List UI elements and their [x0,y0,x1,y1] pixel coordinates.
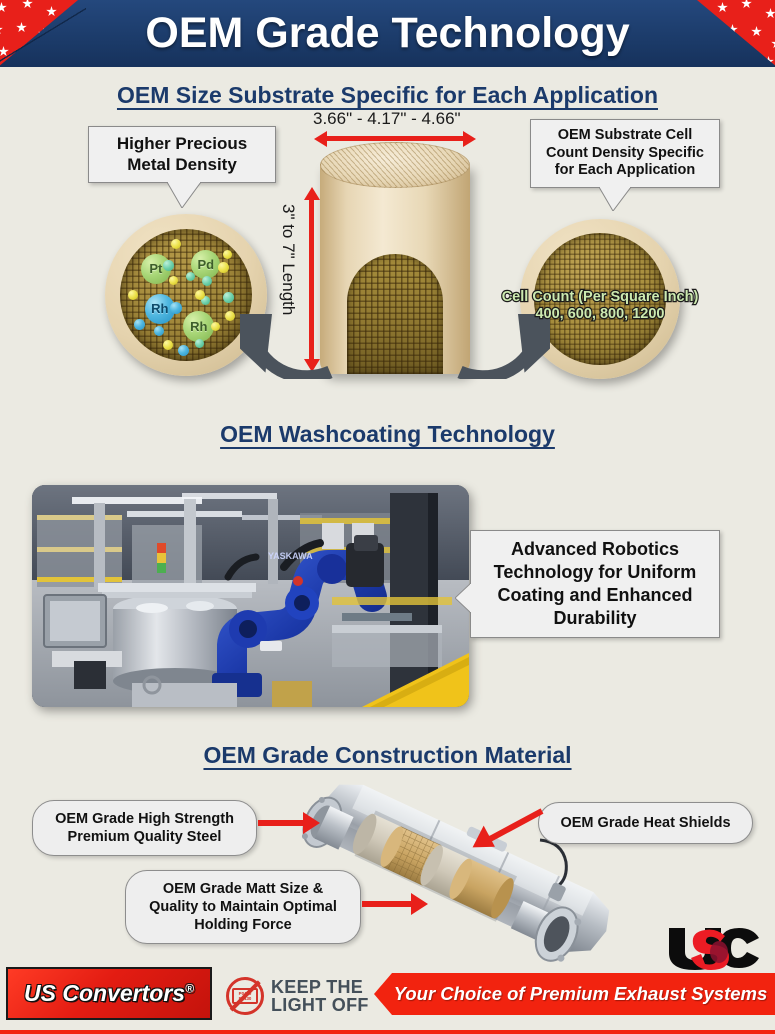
keep-the-light-off-badge: P0420 P0430 KEEP THE LIGHT OFF [226,977,369,1015]
callout-cell-count-density: OEM Substrate Cell Count Density Specifi… [530,119,720,188]
metal-particle [225,311,235,321]
keep-light-off-text: KEEP THE LIGHT OFF [271,978,369,1015]
cylinder-body [320,164,470,374]
section-title-washcoating: OEM Washcoating Technology [0,421,775,448]
pill-high-strength-steel: OEM Grade High Strength Premium Quality … [32,800,257,856]
metal-particle [170,302,182,314]
tagline-banner: Your Choice of Premium Exhaust Systems [374,973,775,1015]
callout-line: Higher Precious [98,134,266,155]
metal-particle [169,276,178,285]
metal-particle [223,250,232,259]
pill-matt-size-quality: OEM Grade Matt Size & Quality to Maintai… [125,870,361,944]
bottom-red-strip [0,1030,775,1034]
metal-particle [223,292,234,303]
arrow-head-right-icon [463,131,476,147]
svg-text:YASKAWA: YASKAWA [268,551,313,561]
cell-count-line1: Cell Count (Per Square Inch) [500,289,700,306]
pill-heat-shields: OEM Grade Heat Shields [538,802,753,844]
callout-line: Count Density Specific [540,145,710,163]
pill-line: Holding Force [139,916,347,934]
keep-light-line1: KEEP THE [271,978,369,996]
tagline-text: Your Choice of Premium Exhaust Systems [382,983,768,1005]
arrow-head-icon [411,893,428,915]
metal-particle [218,262,229,273]
page-title: OEM Grade Technology [0,0,775,67]
callout-higher-precious-metal-density: Higher Precious Metal Density [88,126,276,183]
arrow-shaft [258,820,303,826]
no-check-engine-icon: P0420 P0430 [226,977,264,1015]
cell-count-annotation: Cell Count (Per Square Inch) 400, 600, 8… [500,289,700,322]
section-title-construction: OEM Grade Construction Material [0,742,775,769]
section-title-substrate: OEM Size Substrate Specific for Each App… [0,82,775,109]
callout-tail-icon [455,583,471,613]
metal-particle [211,322,220,331]
metal-particle [195,339,204,348]
metal-particle [202,276,212,286]
metal-particle [171,239,181,249]
keep-light-line2: LIGHT OFF [271,996,369,1014]
curved-arrow-left-icon [240,314,335,379]
length-label: 3" to 7" Length [278,204,298,315]
disc-honeycomb-face: Pt Pd Rh Rh [120,229,253,362]
cell-count-line2: 400, 600, 800, 1200 [500,306,700,323]
washcoating-photo: YASKAWA [32,485,469,707]
arrow-to-heat-shields [468,805,544,849]
callout-line: Advanced Robotics [480,538,710,561]
callout-line: Metal Density [98,155,266,176]
metal-particle [195,290,205,300]
arrow-to-steel [258,812,320,834]
metal-particle [178,345,189,356]
page-footer: US Convertors® P0420 P0430 KEEP THE LIGH… [0,955,775,1034]
substrate-section: Higher Precious Metal Density OEM Substr… [0,109,775,419]
precious-metal-rh-green: Rh [183,311,214,342]
arrow-shaft [362,901,411,907]
pill-line: OEM Grade Heat Shields [552,814,739,832]
diameter-label: 3.66" - 4.17" - 4.66" [313,109,461,129]
pill-line: OEM Grade High Strength [46,810,243,828]
precious-metal-pd: Pd [191,250,220,279]
arrow-shaft [327,136,463,141]
us-convertors-logo: US Convertors® [6,967,212,1020]
page-header: OEM Grade Technology [0,0,775,67]
callout-line: Technology for Uniform [480,561,710,584]
curved-arrow-right-icon [455,314,550,379]
substrate-cylinder [320,142,470,374]
callout-tail-icon [167,182,201,208]
callout-advanced-robotics: Advanced Robotics Technology for Uniform… [470,530,720,638]
callout-line: Durability [480,607,710,630]
cylinder-honeycomb-cutaway [347,254,443,374]
arrow-head-icon [303,812,320,834]
callout-line: Coating and Enhanced [480,584,710,607]
callout-tail-icon [599,187,631,211]
brand-name: US Convertors® [24,980,194,1007]
pill-line: Quality to Maintain Optimal [139,898,347,916]
callout-line: OEM Substrate Cell [540,127,710,145]
diameter-arrow [314,134,476,143]
arrow-head-left-icon [314,131,327,147]
metal-particle [186,272,195,281]
metal-particle [134,319,145,330]
cylinder-top-face [320,142,470,188]
pill-line: Premium Quality Steel [46,828,243,846]
robotics-factory-illustration: YASKAWA [32,485,469,707]
arrow-to-matt [362,893,428,915]
pill-line: OEM Grade Matt Size & [139,880,347,898]
metal-particle [154,326,164,336]
metal-particle [128,290,138,300]
metal-particle [163,260,174,271]
callout-line: for Each Application [540,162,710,180]
metal-particle [163,340,173,350]
arrow-head-up-icon [304,187,320,200]
